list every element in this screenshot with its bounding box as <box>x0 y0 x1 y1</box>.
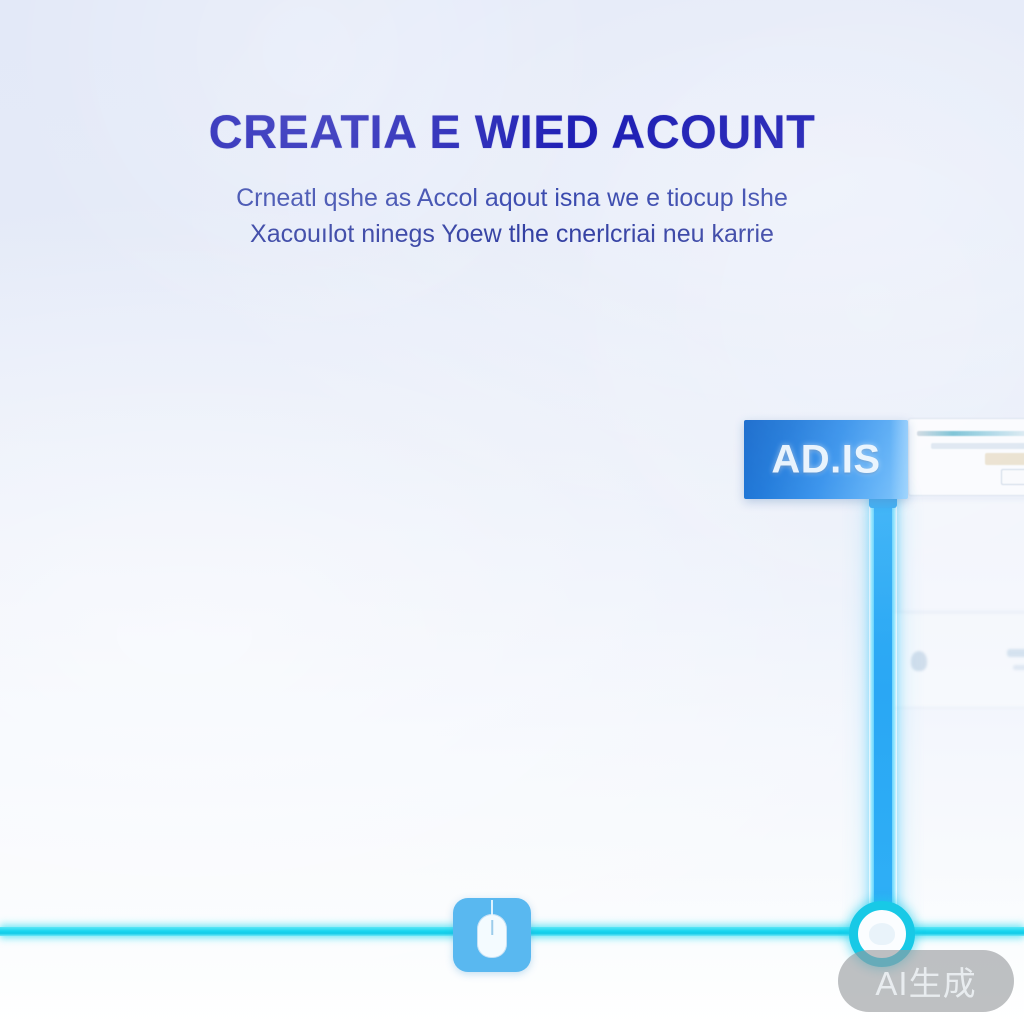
ghost-chip-primary <box>1007 649 1024 657</box>
ghost-panel-profile <box>880 612 1024 708</box>
ghost-chip-secondary <box>1013 665 1024 670</box>
headline-block: CREATIA E WIED ACOUNT Crneatl qshe as Ac… <box>0 108 1024 252</box>
ghost-panel-browser <box>908 418 1024 496</box>
ai-watermark-label: AI生成 <box>875 957 976 1005</box>
page-title: CREATIA E WIED ACOUNT <box>0 108 1024 155</box>
ai-watermark-badge: AI生成 <box>838 950 1014 1012</box>
subtitle-line-1: Crneatl qshe as Accol aqout isna we e ti… <box>0 181 1024 217</box>
ghost-toolbar-bar <box>917 431 1024 436</box>
adis-sign-board[interactable]: AD.IS <box>744 420 908 499</box>
adis-sign-label: AD.IS <box>744 437 908 482</box>
poster-canvas: CREATIA E WIED ACOUNT Crneatl qshe as Ac… <box>0 0 1024 1024</box>
mouse-cable <box>491 900 493 916</box>
node-inner-shape <box>869 923 895 945</box>
ghost-button-box <box>1001 469 1024 485</box>
mouse-seam-line <box>491 920 493 935</box>
subtitle-block: Crneatl qshe as Accol aqout isna we e ti… <box>0 181 1024 252</box>
signpost-pole <box>874 492 892 936</box>
ghost-panel-tall <box>900 500 1024 612</box>
mouse-body-shape <box>477 914 507 958</box>
ghost-highlight-block <box>985 453 1024 465</box>
computer-mouse-icon[interactable] <box>453 898 531 972</box>
subtitle-line-2: Xacouılot ninegs Yoew tlhe cnerlcriai ne… <box>0 217 1024 253</box>
ghost-avatar-icon <box>911 651 927 671</box>
ghost-content-bar <box>931 443 1024 449</box>
